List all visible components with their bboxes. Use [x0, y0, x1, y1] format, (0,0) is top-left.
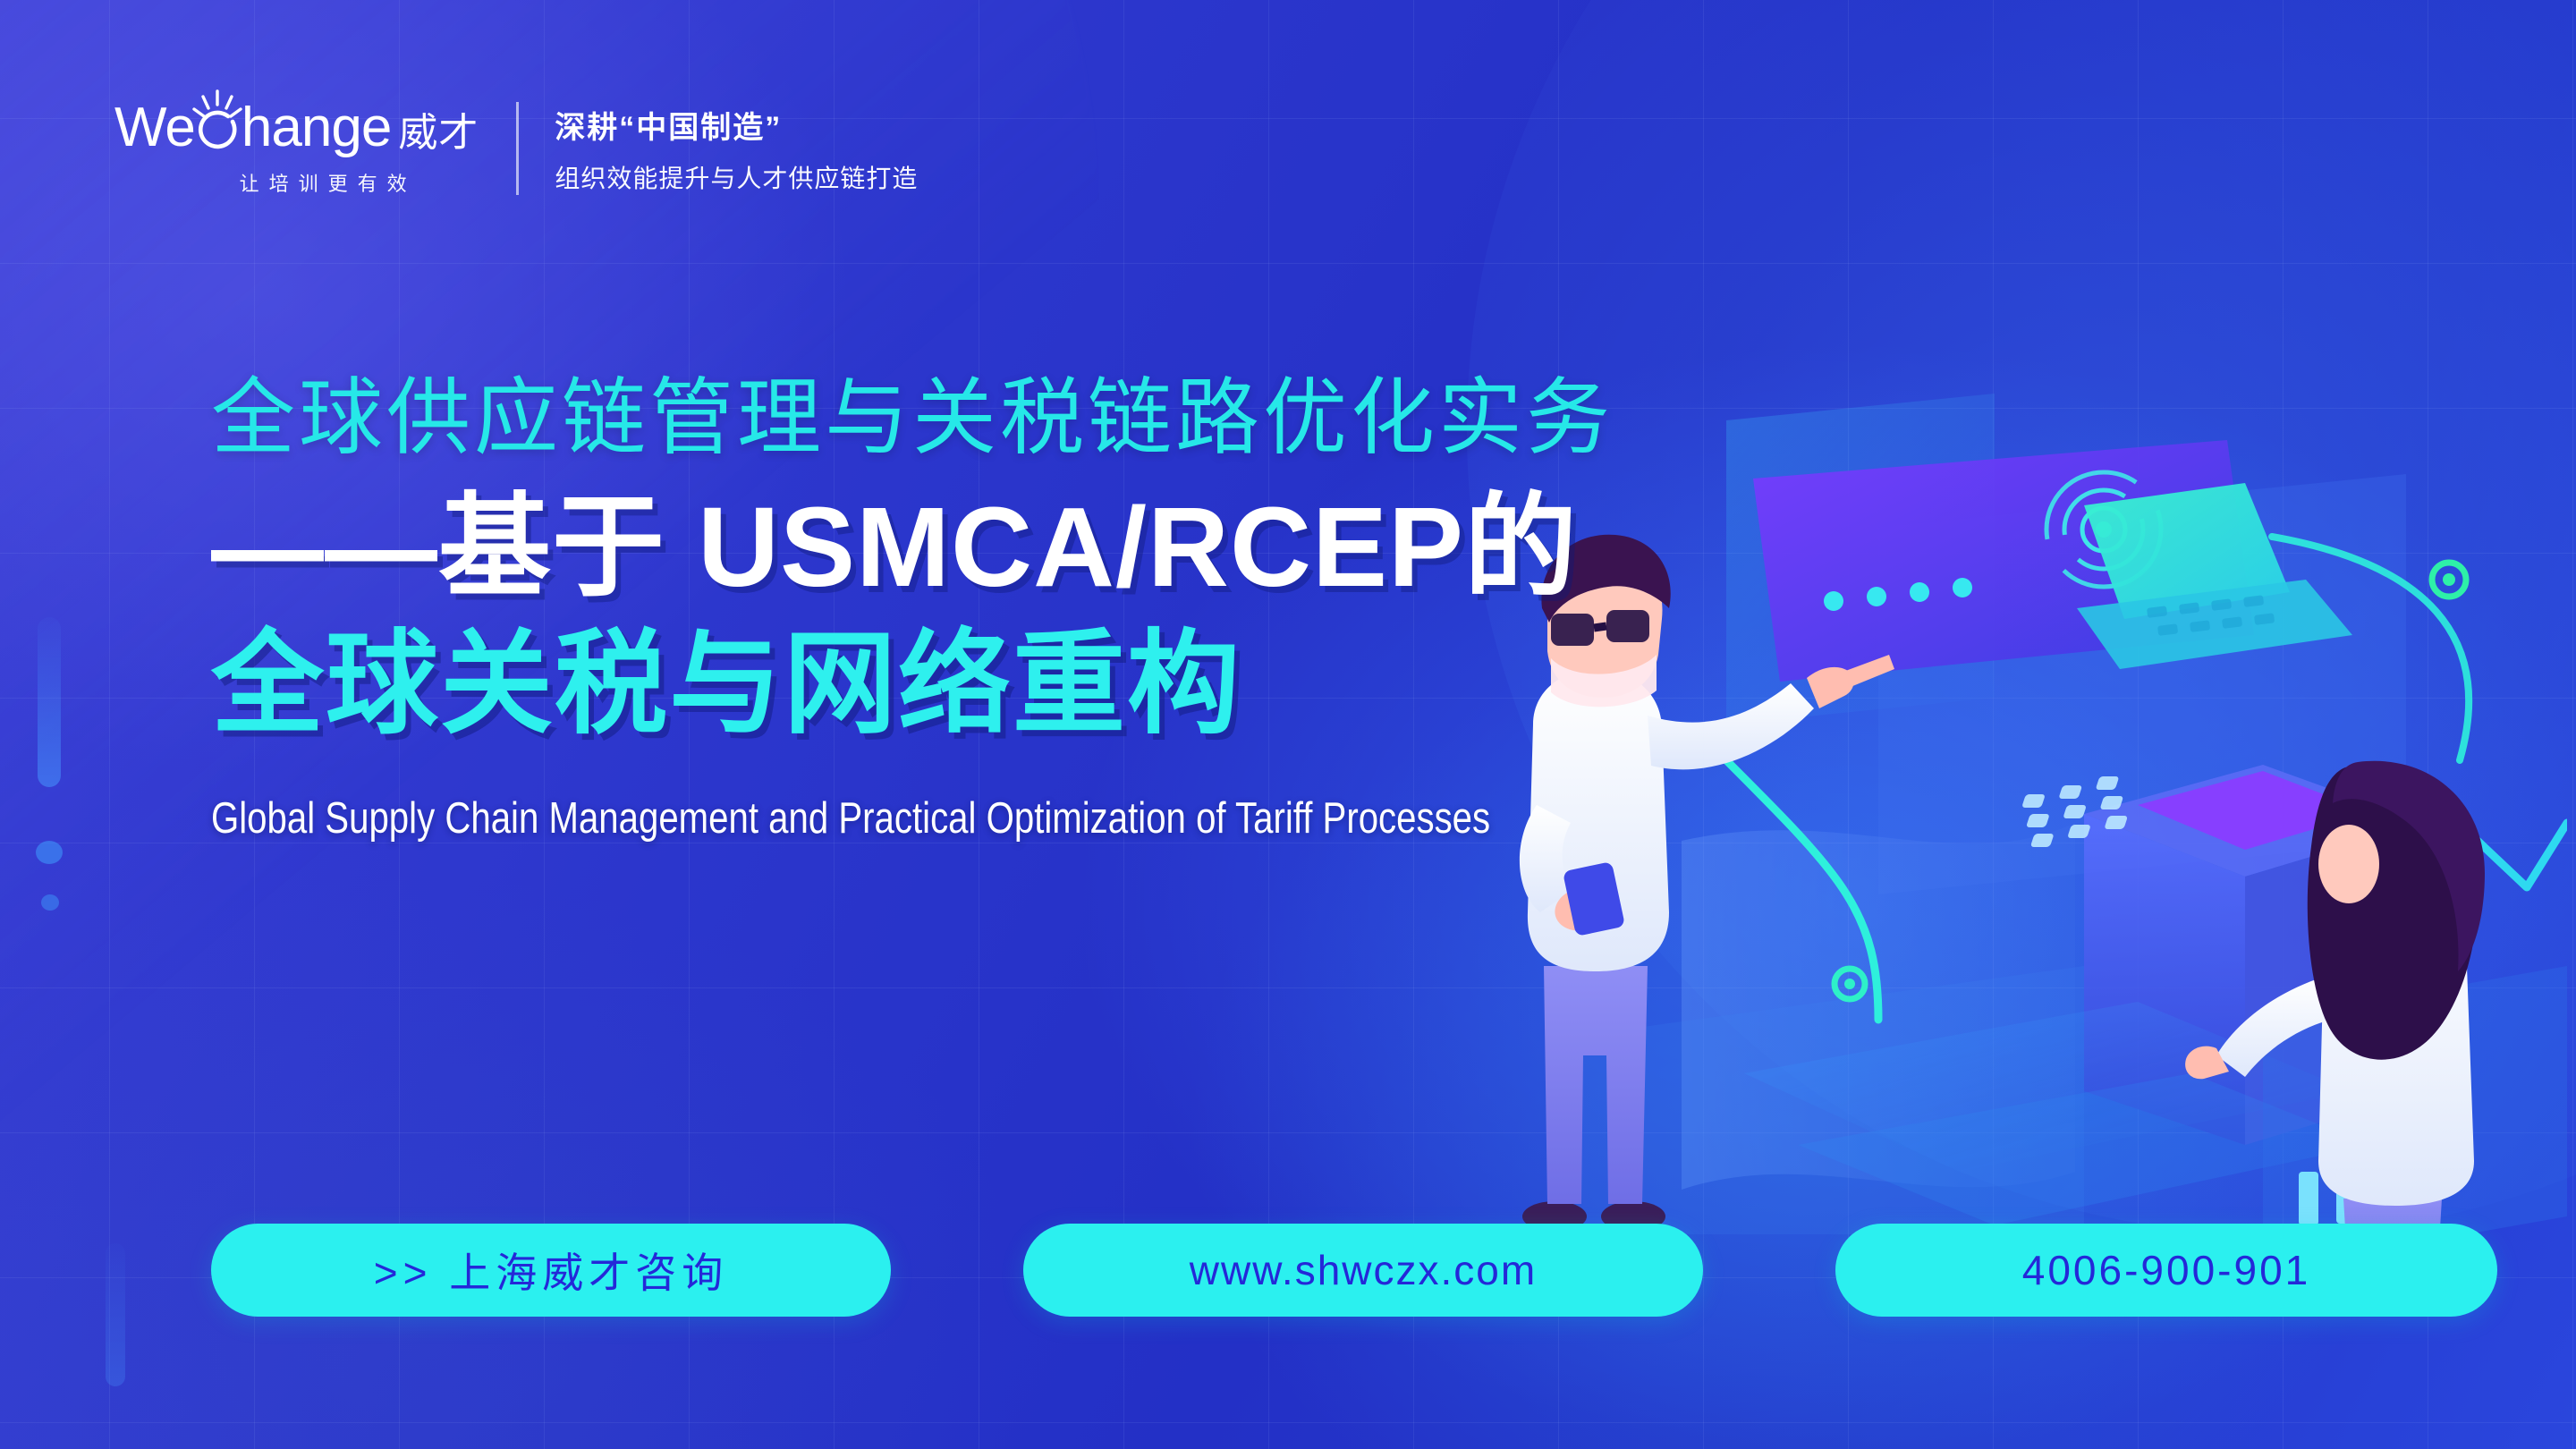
headline-block: 全球供应链管理与关税链路优化实务 ——基于 USMCA/RCEP的 全球关税与网…: [211, 376, 2045, 843]
contact-pill-group: >> 上海威才咨询 www.shwczx.com 4006-900-901: [211, 1224, 2497, 1317]
logo-wordmark: We hange 威才: [114, 100, 479, 156]
promo-banner: We hange 威才 让培训更有: [0, 0, 2576, 1449]
headline-line-3: 全球关税与网络重构: [211, 618, 2045, 751]
headline-line-2: ——基于 USMCA/RCEP的: [211, 481, 2045, 614]
header-divider: [516, 102, 519, 195]
tagline-line-2: 组织效能提升与人才供应链打造: [555, 159, 918, 195]
tagline: 深耕“中国制造” 组织效能提升与人才供应链打造: [555, 103, 918, 195]
logo[interactable]: We hange 威才 让培训更有: [114, 100, 516, 197]
header: We hange 威才 让培训更有: [114, 100, 918, 197]
sun-burst-icon: [191, 100, 243, 156]
website-pill[interactable]: www.shwczx.com: [1023, 1224, 1703, 1317]
headline-subtitle-english: Global Supply Chain Management and Pract…: [211, 793, 1715, 843]
logo-text-chinese: 威才: [398, 114, 479, 156]
logo-text-hange: hange: [241, 100, 391, 156]
logo-text-we: We: [114, 100, 195, 156]
logo-subtitle: 让培训更有效: [114, 168, 479, 197]
headline-line-1: 全球供应链管理与关税链路优化实务: [211, 376, 2045, 460]
company-pill[interactable]: >> 上海威才咨询: [211, 1224, 891, 1317]
phone-pill[interactable]: 4006-900-901: [1835, 1224, 2497, 1317]
tagline-line-1: 深耕“中国制造”: [555, 103, 918, 147]
